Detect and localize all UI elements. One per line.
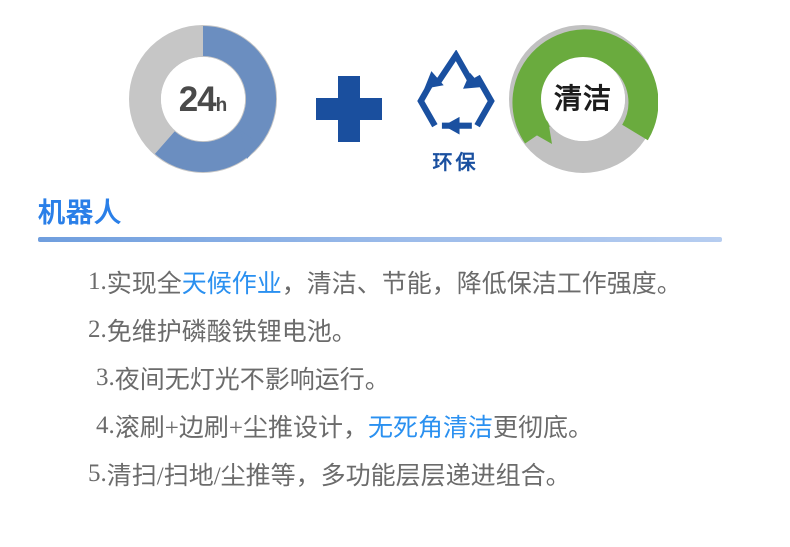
list-item-highlight: 天候作业 [182, 264, 282, 300]
list-item-text: 夜间无灯光不影响运行。 [115, 360, 390, 396]
list-item-number: 5. [88, 460, 107, 488]
list-item-highlight: 无死角清洁 [368, 408, 493, 444]
recycle-arm-top [438, 55, 470, 81]
list-item-text: ，清洁、节能，降低保洁工作强度。 [282, 264, 682, 300]
icon-band: 24h [0, 0, 790, 198]
list-item-number: 2. [88, 316, 107, 344]
plus-shape [316, 76, 382, 142]
24h-donut-svg [128, 24, 278, 174]
list-item-text: 更彻底。 [493, 408, 593, 444]
list-item: 4.滚刷+边刷+尘推设计，无死角清洁更彻底。 [0, 402, 790, 450]
recycle-group: 环保 [398, 50, 513, 190]
list-item-number: 3. [96, 364, 115, 392]
list-item: 2.免维护磷酸铁锂电池。 [0, 306, 790, 354]
24h-availability-donut: 24h [128, 24, 278, 174]
feature-list: 1.实现全天候作业，清洁、节能，降低保洁工作强度。2.免维护磷酸铁锂电池。3.夜… [0, 258, 790, 498]
recycle-arrowhead-bottom [444, 117, 460, 135]
clean-donut-svg [508, 24, 658, 174]
heading-divider [38, 237, 722, 242]
list-item-number: 4. [96, 412, 115, 440]
recycle-icon [412, 50, 500, 138]
plus-sign-icon [312, 72, 386, 146]
plus-sign-svg [312, 72, 386, 146]
list-item: 1.实现全天候作业，清洁、节能，降低保洁工作强度。 [0, 258, 790, 306]
list-item-text: 清扫/扫地/尘推等，多功能层层递进组合。 [107, 456, 571, 492]
clean-donut-hole [541, 57, 625, 141]
recycle-caption: 环保 [398, 146, 513, 175]
list-item: 3.夜间无灯光不影响运行。 [0, 354, 790, 402]
cleaning-donut: 清洁 [508, 24, 658, 174]
recycle-icon-svg [412, 50, 500, 138]
list-item-number: 1. [88, 268, 107, 296]
list-item: 5.清扫/扫地/尘推等，多功能层层递进组合。 [0, 450, 790, 498]
24h-donut-hole [161, 57, 245, 141]
page-title: 机器人 [38, 196, 122, 231]
list-item-text: 实现全 [107, 264, 182, 300]
list-item-text: 免维护磷酸铁锂电池。 [107, 312, 357, 348]
list-item-text: 滚刷+边刷+尘推设计， [115, 408, 368, 444]
